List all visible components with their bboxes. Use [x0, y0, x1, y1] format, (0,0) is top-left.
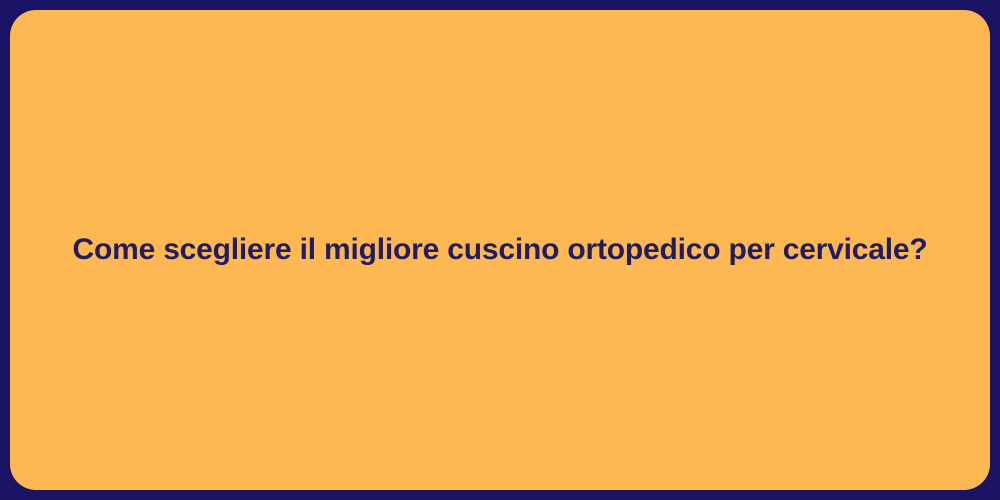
page-title: Come scegliere il migliore cuscino ortop… — [73, 231, 928, 269]
card-surface: Come scegliere il migliore cuscino ortop… — [10, 10, 990, 490]
card-frame: Come scegliere il migliore cuscino ortop… — [0, 0, 1000, 500]
